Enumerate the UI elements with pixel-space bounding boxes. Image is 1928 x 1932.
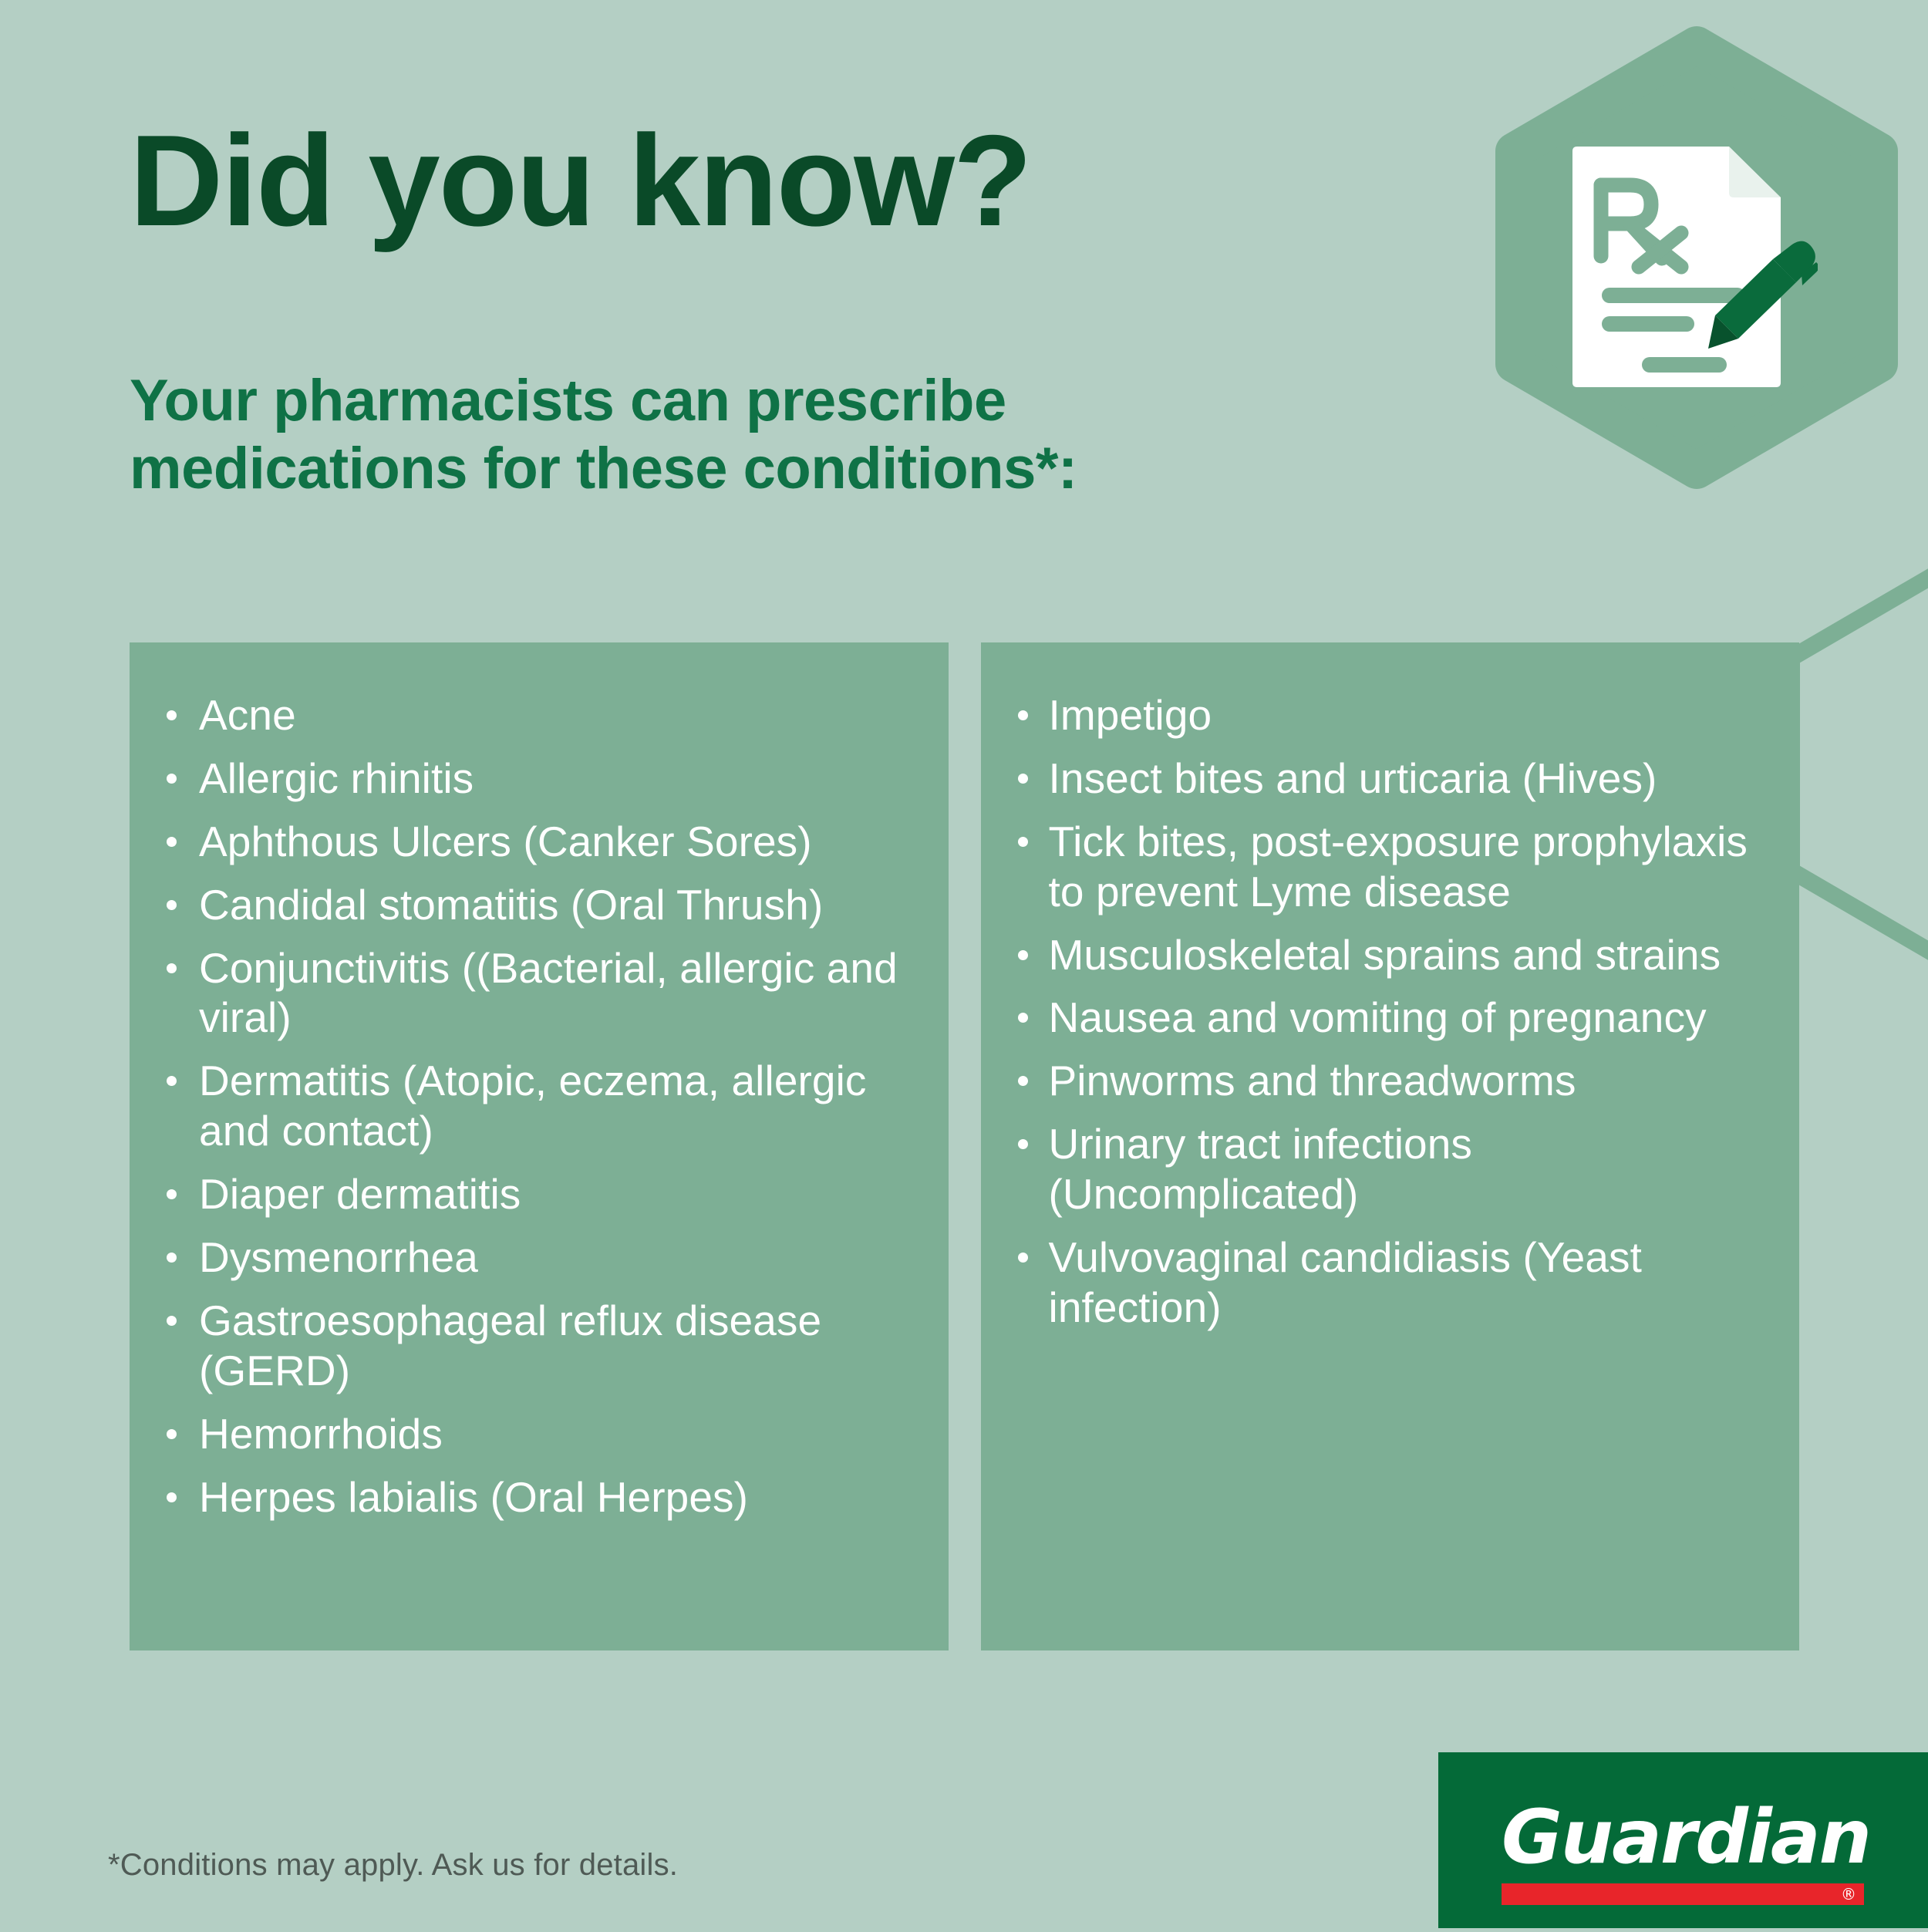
- guardian-logo-inner: Guardian ®: [1502, 1800, 1864, 1905]
- list-item: Insect bites and urticaria (Hives): [1012, 754, 1769, 804]
- page-subtitle: Your pharmacists can prescribe medicatio…: [130, 245, 1286, 503]
- list-item-label: Acne: [199, 691, 296, 739]
- bullet-icon: [167, 774, 177, 784]
- list-item: Herpes labialis (Oral Herpes): [160, 1472, 918, 1522]
- bullet-icon: [1018, 774, 1028, 784]
- conditions-list-right: Impetigo Insect bites and urticaria (Hiv…: [1012, 690, 1769, 1333]
- list-item-label: Hemorrhoids: [199, 1410, 443, 1458]
- list-item: Gastroesophageal reflux disease (GERD): [160, 1296, 918, 1396]
- subtitle-line-2: medications for these conditions*:: [130, 435, 1286, 503]
- hexagon-outline-shape: [1791, 551, 1928, 977]
- list-item-label: Diaper dermatitis: [199, 1170, 521, 1218]
- document-text-line-2: [1602, 316, 1694, 332]
- registered-trademark-icon: ®: [1841, 1886, 1856, 1903]
- list-item: Hemorrhoids: [160, 1409, 918, 1459]
- list-item: Dysmenorrhea: [160, 1232, 918, 1283]
- bullet-icon: [167, 710, 177, 720]
- list-item-label: Aphthous Ulcers (Canker Sores): [199, 818, 812, 865]
- list-item: Urinary tract infections (Uncomplicated): [1012, 1119, 1769, 1219]
- bullet-icon: [167, 837, 177, 847]
- list-item-label: Allergic rhinitis: [199, 754, 474, 802]
- list-item: Dermatitis (Atopic, eczema, allergic and…: [160, 1056, 918, 1156]
- list-item-label: Conjunctivitis ((Bacterial, allergic and…: [199, 944, 898, 1042]
- list-item: Nausea and vomiting of pregnancy: [1012, 993, 1769, 1043]
- list-item-label: Nausea and vomiting of pregnancy: [1049, 993, 1707, 1041]
- page-title: Did you know?: [130, 116, 1286, 245]
- list-item-label: Urinary tract infections (Uncomplicated): [1049, 1120, 1473, 1218]
- folded-corner: [1729, 147, 1781, 197]
- list-item: Allergic rhinitis: [160, 754, 918, 804]
- bullet-icon: [1018, 950, 1028, 960]
- bullet-icon: [167, 963, 177, 973]
- list-item: Candidal stomatitis (Oral Thrush): [160, 880, 918, 930]
- bullet-icon: [1018, 1139, 1028, 1149]
- list-item: Diaper dermatitis: [160, 1169, 918, 1219]
- list-item-label: Gastroesophageal reflux disease (GERD): [199, 1296, 821, 1394]
- bullet-icon: [167, 1492, 177, 1502]
- bullet-icon: [1018, 837, 1028, 847]
- list-item-label: Impetigo: [1049, 691, 1212, 739]
- list-item: Acne: [160, 690, 918, 740]
- prescription-document-with-pen-icon: [1571, 139, 1818, 393]
- footnote-disclaimer: *Conditions may apply. Ask us for detail…: [108, 1848, 678, 1883]
- conditions-panel-left: Acne Allergic rhinitis Aphthous Ulcers (…: [130, 642, 949, 1650]
- list-item-label: Vulvovaginal candidiasis (Yeast infectio…: [1049, 1233, 1643, 1331]
- guardian-logo-underline: ®: [1502, 1883, 1864, 1905]
- guardian-logo: Guardian ®: [1438, 1752, 1928, 1928]
- conditions-panels: Acne Allergic rhinitis Aphthous Ulcers (…: [130, 642, 1799, 1650]
- bullet-icon: [1018, 1253, 1028, 1263]
- list-item-label: Tick bites, post-exposure prophylaxis to…: [1049, 818, 1748, 915]
- list-item-label: Herpes labialis (Oral Herpes): [199, 1473, 748, 1521]
- signature-line: [1642, 357, 1727, 373]
- bullet-icon: [167, 1076, 177, 1086]
- list-item: Tick bites, post-exposure prophylaxis to…: [1012, 817, 1769, 917]
- header: Did you know? Your pharmacists can presc…: [130, 116, 1286, 503]
- conditions-panel-right: Impetigo Insect bites and urticaria (Hiv…: [981, 642, 1800, 1650]
- list-item: Conjunctivitis ((Bacterial, allergic and…: [160, 943, 918, 1044]
- list-item-label: Musculoskeletal sprains and strains: [1049, 931, 1721, 979]
- list-item-label: Insect bites and urticaria (Hives): [1049, 754, 1657, 802]
- bullet-icon: [167, 1429, 177, 1439]
- guardian-wordmark: Guardian: [1502, 1800, 1864, 1874]
- document-text-line-1: [1602, 288, 1745, 303]
- list-item: Aphthous Ulcers (Canker Sores): [160, 817, 918, 867]
- bullet-icon: [167, 1253, 177, 1263]
- list-item-label: Dysmenorrhea: [199, 1233, 478, 1281]
- bullet-icon: [1018, 1013, 1028, 1023]
- list-item-label: Candidal stomatitis (Oral Thrush): [199, 881, 823, 929]
- list-item: Vulvovaginal candidiasis (Yeast infectio…: [1012, 1232, 1769, 1333]
- bullet-icon: [167, 1189, 177, 1199]
- bullet-icon: [1018, 1076, 1028, 1086]
- bullet-icon: [167, 900, 177, 910]
- list-item-label: Pinworms and threadworms: [1049, 1057, 1576, 1104]
- list-item: Impetigo: [1012, 690, 1769, 740]
- bullet-icon: [1018, 710, 1028, 720]
- list-item-label: Dermatitis (Atopic, eczema, allergic and…: [199, 1057, 867, 1155]
- list-item: Musculoskeletal sprains and strains: [1012, 930, 1769, 980]
- conditions-list-left: Acne Allergic rhinitis Aphthous Ulcers (…: [160, 690, 918, 1522]
- bullet-icon: [167, 1316, 177, 1326]
- subtitle-line-1: Your pharmacists can prescribe: [130, 367, 1286, 435]
- list-item: Pinworms and threadworms: [1012, 1056, 1769, 1106]
